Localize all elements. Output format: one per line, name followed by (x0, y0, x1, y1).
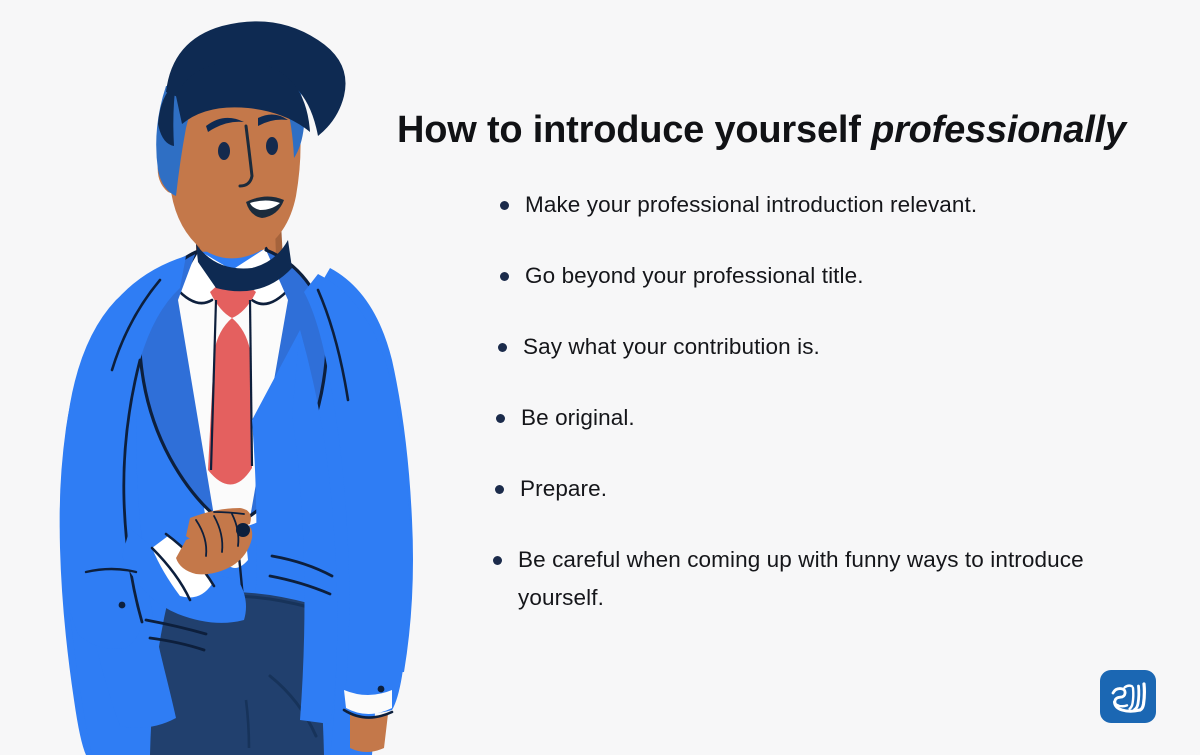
arabic-calligraphy-mark-icon (1106, 680, 1150, 714)
title-plain-text: How to introduce yourself (397, 109, 871, 151)
page-title: How to introduce yourself professionally (397, 107, 1126, 153)
list-item: Say what your contribution is. (495, 328, 1157, 366)
eye-left (218, 142, 230, 160)
list-item-label: Be careful when coming up with funny way… (518, 541, 1133, 617)
bullet-dot-icon (500, 272, 509, 281)
list-item: Make your professional introduction rele… (497, 186, 1157, 224)
list-item: Go beyond your professional title. (497, 257, 1157, 295)
list-item-label: Prepare. (520, 476, 607, 501)
right-sleeve-button (378, 686, 385, 693)
arabic-calligraphy-logo[interactable] (1100, 670, 1156, 723)
infographic-canvas: How to introduce yourself professionally… (0, 0, 1200, 755)
bullet-dot-icon (500, 201, 509, 210)
jacket-button (236, 523, 250, 537)
list-item: Be careful when coming up with funny way… (490, 541, 1157, 617)
list-item-label: Be original. (521, 405, 635, 430)
title-italic-text: professionally (871, 109, 1126, 151)
bullet-dot-icon (496, 414, 505, 423)
list-item-label: Say what your contribution is. (523, 334, 820, 359)
bullet-dot-icon (495, 485, 504, 494)
tips-bullet-list: Make your professional introduction rele… (497, 186, 1157, 617)
list-item: Prepare. (492, 470, 1157, 508)
list-item-label: Make your professional introduction rele… (525, 192, 977, 217)
left-sleeve-button (119, 602, 126, 609)
bullet-dot-icon (498, 343, 507, 352)
text-content-column: How to introduce yourself professionally… (397, 0, 1157, 755)
list-item: Be original. (493, 399, 1157, 437)
list-item-label: Go beyond your professional title. (525, 263, 864, 288)
eye-right (266, 137, 278, 155)
bullet-dot-icon (493, 556, 502, 565)
